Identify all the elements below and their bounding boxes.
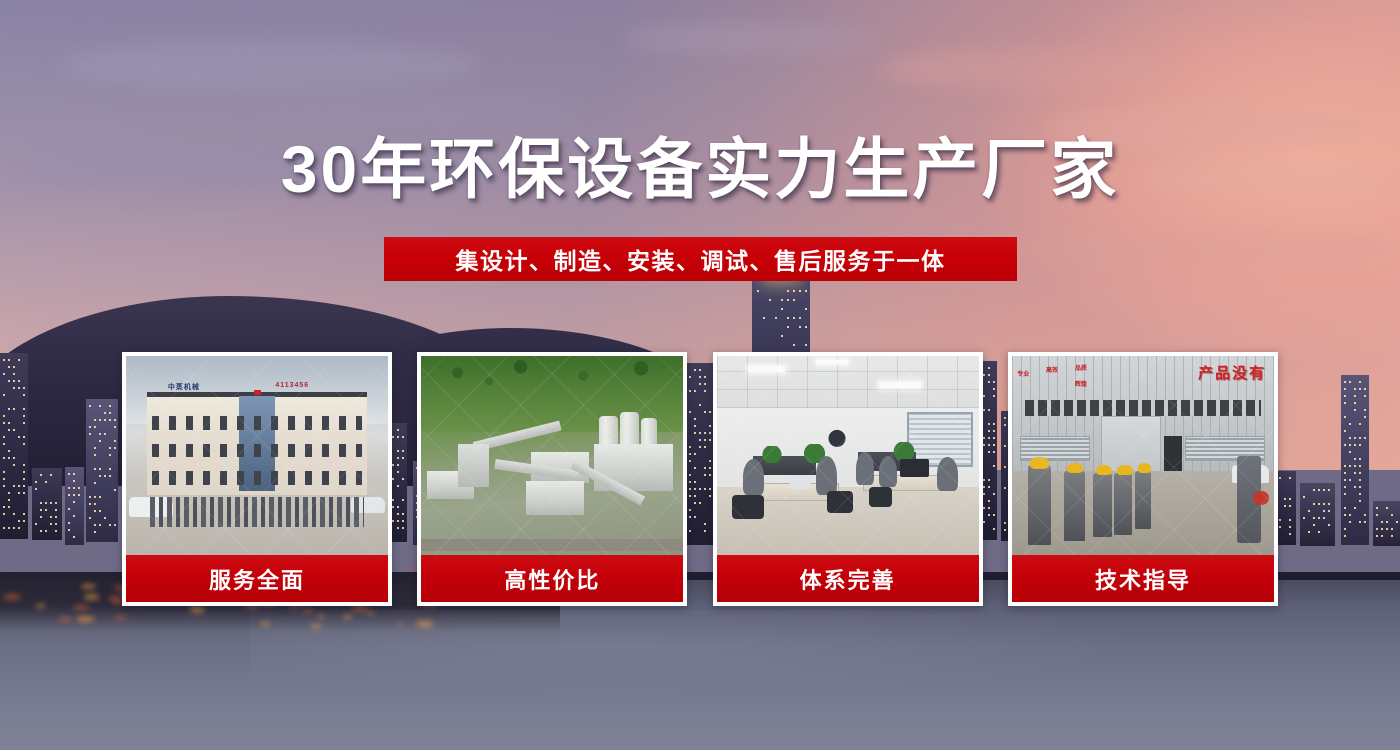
building: [32, 468, 62, 540]
office-worker: [856, 452, 874, 486]
worker: [1064, 471, 1085, 541]
feature-card-list: 中蒸机械 4113456 服务全面: [122, 352, 1278, 606]
clerestory-window-strip: [1025, 400, 1261, 416]
window-row: [152, 444, 362, 458]
office-chair: [869, 487, 893, 507]
cloud: [250, 92, 580, 130]
feature-card[interactable]: 体系完善: [713, 352, 983, 606]
workers-training-photo: 产品没有 专业 高效 品质 辉煌: [1012, 356, 1274, 555]
card-label: 服务全面: [126, 555, 388, 602]
hero-banner: 30年环保设备实力生产厂家 集设计、制造、安装、调试、售后服务于一体 中蒸机械 …: [0, 0, 1400, 750]
company-building-photo: 中蒸机械 4113456: [126, 356, 388, 555]
wall-slogan-word: 品质: [1075, 366, 1087, 373]
industrial-plant-aerial-photo: [421, 356, 683, 555]
red-helmet-icon: [1253, 491, 1269, 505]
potted-plant: [890, 442, 919, 462]
card-label-text: 高性价比: [504, 563, 600, 595]
subtitle-banner: 集设计、制造、安装、调试、售后服务于一体: [384, 237, 1017, 281]
cloud: [60, 40, 480, 92]
building-phone-number: 4113456: [275, 382, 309, 389]
card-label-text: 服务全面: [209, 563, 305, 595]
ceiling-grid: [717, 356, 979, 408]
card-label: 高性价比: [421, 555, 683, 602]
worker: [1028, 465, 1052, 545]
plant-shed: [526, 481, 584, 515]
window-row: [152, 416, 362, 430]
ceiling-light: [748, 366, 785, 372]
building-signage: 中蒸机械: [168, 382, 200, 392]
office-worker: [879, 456, 897, 488]
window-row: [152, 471, 362, 485]
office-chair: [732, 495, 763, 519]
hard-hat-icon: [1030, 457, 1048, 469]
staff-lineup: [150, 497, 365, 527]
card-label-text: 技术指导: [1095, 563, 1191, 595]
worker: [1114, 473, 1132, 535]
feature-card[interactable]: 产品没有 专业 高效 品质 辉煌: [1008, 352, 1278, 606]
building: [1341, 375, 1369, 545]
hard-hat-icon: [1096, 465, 1112, 475]
wall-slogan-word: 辉煌: [1075, 382, 1087, 389]
wall-slogan-word: 高效: [1046, 368, 1058, 375]
hard-hat-icon: [1117, 465, 1133, 475]
card-label: 体系完善: [717, 555, 979, 602]
plant-road: [421, 539, 683, 551]
office-worker: [743, 459, 764, 495]
factory-wall-slogan: 产品没有: [1198, 362, 1266, 383]
factory-window: [1020, 436, 1090, 462]
wall-slogan-word: 专业: [1017, 372, 1029, 379]
building: [1300, 483, 1335, 546]
building: [0, 353, 28, 539]
laptop: [790, 475, 811, 489]
feature-card[interactable]: 中蒸机械 4113456 服务全面: [122, 352, 392, 606]
water-sheen: [250, 610, 1150, 700]
building: [86, 399, 118, 542]
office-worker: [816, 456, 837, 496]
building: [1373, 501, 1400, 546]
subtitle-text: 集设计、制造、安装、调试、售后服务于一体: [456, 242, 946, 276]
hard-hat-icon: [1138, 463, 1151, 473]
page-title: 30年环保设备实力生产厂家: [0, 134, 1400, 204]
ceiling-light: [816, 360, 847, 364]
office-worker: [937, 457, 958, 491]
card-label-text: 体系完善: [800, 563, 896, 595]
card-label: 技术指导: [1012, 555, 1274, 602]
cloud: [880, 48, 1180, 90]
ceiling-light: [879, 382, 921, 388]
worker: [1093, 473, 1111, 537]
feature-card[interactable]: 高性价比: [417, 352, 687, 606]
cloud: [620, 24, 880, 54]
building: [1276, 471, 1296, 545]
computer-monitor: [900, 459, 929, 477]
flag-icon: [254, 390, 261, 395]
office-chair: [827, 491, 853, 513]
worker: [1135, 471, 1151, 529]
potted-plant: [759, 446, 785, 464]
hard-hat-icon: [1067, 463, 1083, 473]
building: [65, 467, 84, 545]
processing-unit: [458, 444, 489, 488]
factory-roller-door: [1101, 416, 1161, 474]
office-interior-photo: [717, 356, 979, 555]
factory-side-door: [1164, 436, 1182, 472]
